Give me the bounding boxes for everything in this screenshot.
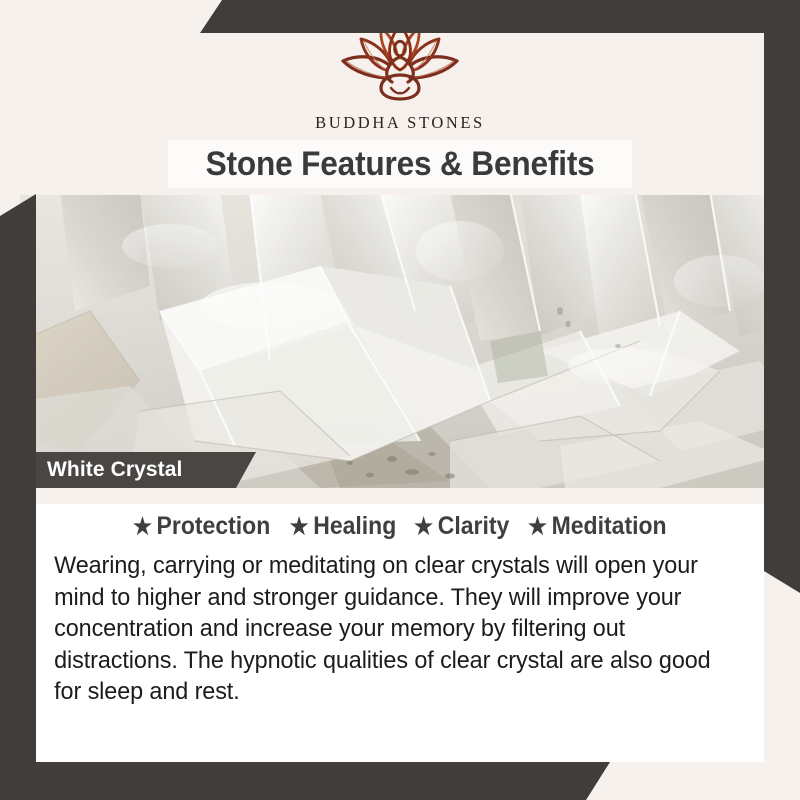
crystal-photo-image bbox=[20, 191, 800, 488]
benefit-label: Clarity bbox=[438, 512, 510, 541]
benefit-item-healing: ★ Healing bbox=[290, 512, 397, 541]
brand-name-text: BUDDHA STONES bbox=[315, 113, 485, 133]
benefit-label: Meditation bbox=[552, 512, 667, 541]
star-icon: ★ bbox=[290, 515, 309, 538]
title-banner: Stone Features & Benefits bbox=[168, 140, 632, 188]
benefit-item-protection: ★ Protection bbox=[133, 512, 270, 541]
lotus-meditation-logo-icon bbox=[334, 18, 466, 110]
benefit-item-meditation: ★ Meditation bbox=[529, 512, 668, 541]
star-icon: ★ bbox=[133, 515, 152, 538]
header-section: BUDDHA STONES Stone Features & Benefits bbox=[0, 0, 800, 195]
content-section: ★ Protection ★ Healing ★ Clarity ★ Medit… bbox=[36, 488, 764, 762]
crystal-photo bbox=[20, 191, 800, 488]
frame-bar-bottom bbox=[0, 762, 610, 800]
benefit-label: Protection bbox=[156, 512, 270, 541]
photo-caption-text: White Crystal bbox=[20, 458, 183, 482]
content-top-strip bbox=[36, 488, 764, 504]
page-title: Stone Features & Benefits bbox=[206, 145, 595, 184]
star-icon: ★ bbox=[414, 515, 433, 538]
benefit-item-clarity: ★ Clarity bbox=[414, 512, 509, 541]
benefits-list: ★ Protection ★ Healing ★ Clarity ★ Medit… bbox=[36, 512, 764, 541]
brand-logo: BUDDHA STONES bbox=[0, 18, 800, 133]
star-icon: ★ bbox=[529, 515, 548, 538]
benefit-label: Healing bbox=[313, 512, 396, 541]
description-text: Wearing, carrying or meditating on clear… bbox=[36, 550, 731, 708]
photo-caption-band: White Crystal bbox=[20, 452, 256, 488]
